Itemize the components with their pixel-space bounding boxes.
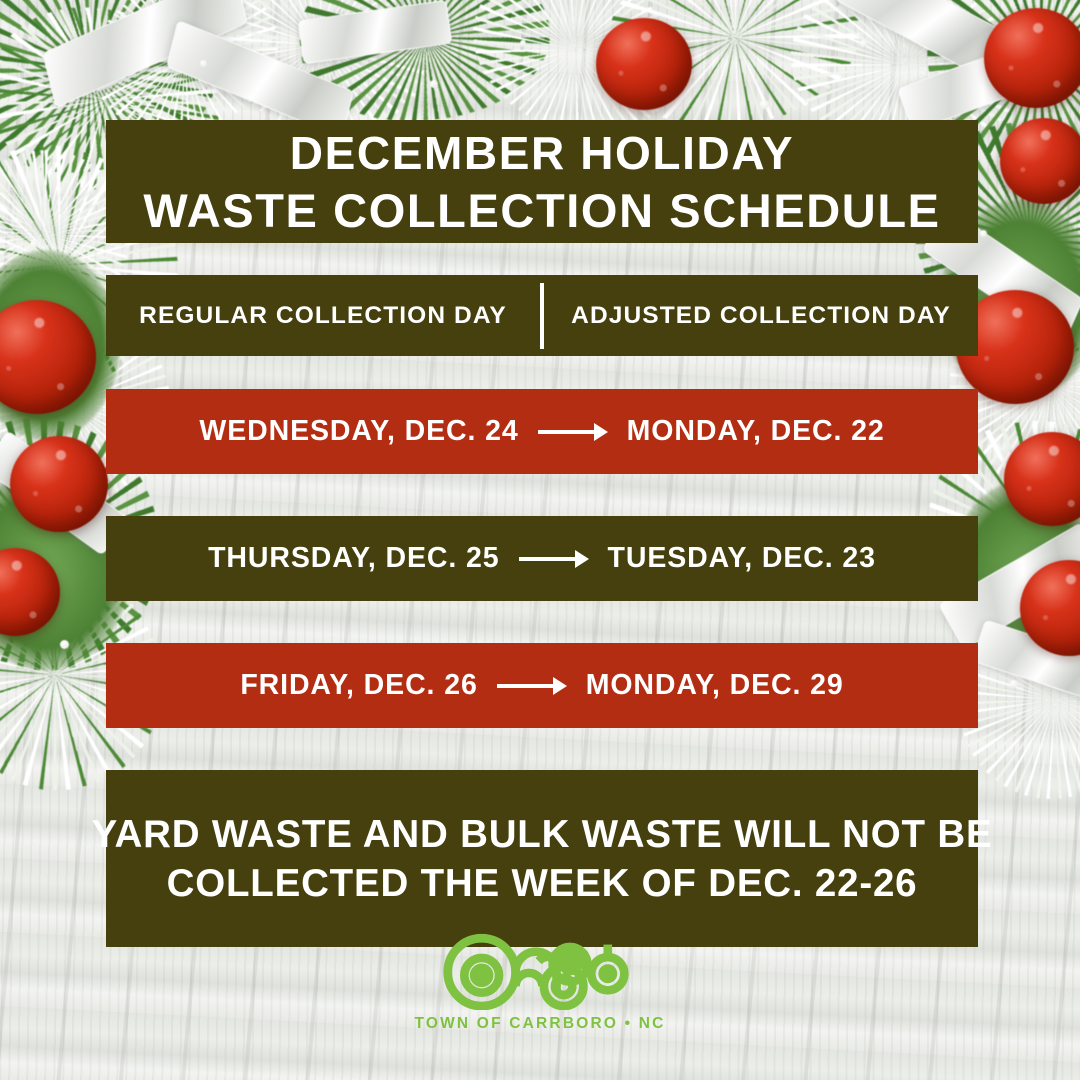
arrow-right-icon bbox=[497, 675, 567, 697]
adjusted-day: TUESDAY, DEC. 23 bbox=[608, 542, 876, 575]
notice-line-2: COLLECTED THE WEEK OF DEC. 22-26 bbox=[167, 859, 918, 908]
logo-tagline: TOWN OF CARRBORO • NC bbox=[414, 1015, 665, 1033]
table-header-row: REGULAR COLLECTION DAY ADJUSTED COLLECTI… bbox=[106, 275, 978, 356]
carrboro-logo-icon bbox=[435, 928, 645, 1010]
notice-block: YARD WASTE AND BULK WASTE WILL NOT BE CO… bbox=[106, 770, 978, 947]
regular-day: WEDNESDAY, DEC. 24 bbox=[199, 415, 518, 448]
notice-line-1: YARD WASTE AND BULK WASTE WILL NOT BE bbox=[92, 810, 993, 859]
arrow-right-icon bbox=[538, 421, 608, 443]
table-row: FRIDAY, DEC. 26 MONDAY, DEC. 29 bbox=[106, 643, 978, 728]
arrow-right-icon bbox=[519, 548, 589, 570]
title-line-1: DECEMBER HOLIDAY bbox=[290, 125, 794, 182]
table-row: WEDNESDAY, DEC. 24 MONDAY, DEC. 22 bbox=[106, 389, 978, 474]
page-title: DECEMBER HOLIDAY WASTE COLLECTION SCHEDU… bbox=[106, 120, 978, 243]
town-logo: TOWN OF CARRBORO • NC bbox=[0, 928, 1080, 1033]
table-row: THURSDAY, DEC. 25 TUESDAY, DEC. 23 bbox=[106, 516, 978, 601]
column-header-regular: REGULAR COLLECTION DAY bbox=[106, 302, 540, 330]
column-header-adjusted: ADJUSTED COLLECTION DAY bbox=[544, 302, 978, 330]
adjusted-day: MONDAY, DEC. 29 bbox=[586, 669, 844, 702]
regular-day: THURSDAY, DEC. 25 bbox=[208, 542, 499, 575]
adjusted-day: MONDAY, DEC. 22 bbox=[627, 415, 885, 448]
title-line-2: WASTE COLLECTION SCHEDULE bbox=[143, 182, 940, 239]
regular-day: FRIDAY, DEC. 26 bbox=[240, 669, 477, 702]
